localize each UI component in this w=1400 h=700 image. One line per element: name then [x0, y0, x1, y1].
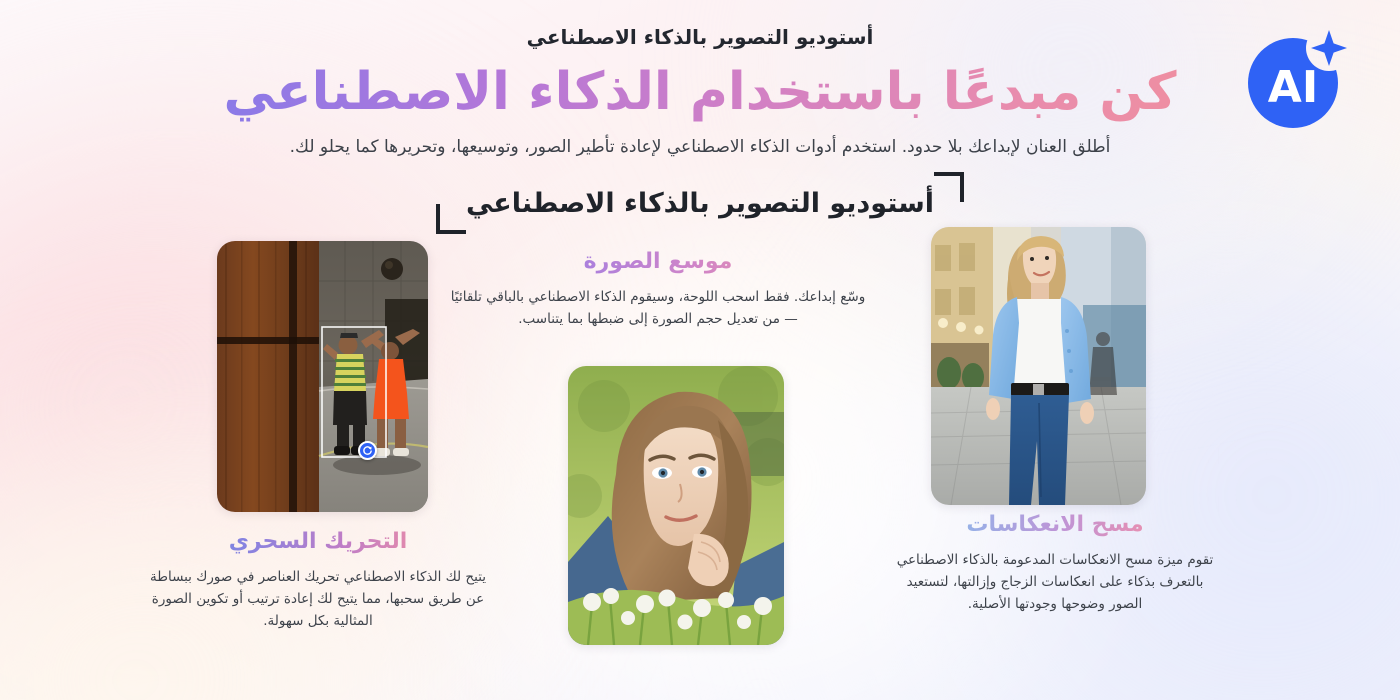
- rotate-handle-icon[interactable]: [358, 441, 377, 460]
- hero-section: أستوديو التصوير بالذكاء الاصطناعي كن مبد…: [0, 22, 1400, 160]
- ai-photo-studio-page: AI أستوديو التصوير بالذكاء الاصطناعي كن …: [0, 0, 1400, 700]
- feature-description-reflection-removal: تقوم ميزة مسح الانعكاسات المدعومة بالذكا…: [895, 549, 1215, 615]
- feature-card-image-expander: موسع الصورة وسّع إبداعك. فقط اسحب اللوحة…: [448, 245, 868, 330]
- hero-subtitle: أطلق العنان لإبداعك بلا حدود. استخدم أدو…: [0, 134, 1400, 160]
- feature-title-image-expander: موسع الصورة: [448, 245, 868, 279]
- feature-description-image-expander: وسّع إبداعك. فقط اسحب اللوحة، وسيقوم الذ…: [448, 286, 868, 330]
- corner-bracket-bottom-left-icon: [436, 204, 466, 234]
- feature-image-reflection-removal[interactable]: [931, 227, 1146, 505]
- section-frame: أستوديو التصوير بالذكاء الاصطناعي: [436, 172, 964, 234]
- section-title: أستوديو التصوير بالذكاء الاصطناعي: [466, 184, 934, 224]
- feature-image-image-expander[interactable]: [568, 366, 784, 645]
- feature-description-magic-move: يتيح لك الذكاء الاصطناعي تحريك العناصر ف…: [148, 566, 488, 632]
- feature-image-magic-move[interactable]: [217, 241, 428, 512]
- corner-bracket-top-right-icon: [934, 172, 964, 202]
- hero-eyebrow: أستوديو التصوير بالذكاء الاصطناعي: [0, 22, 1400, 52]
- feature-title-reflection-removal: مسح الانعكاسات: [895, 508, 1215, 542]
- feature-card-magic-move: التحريك السحري يتيح لك الذكاء الاصطناعي …: [148, 525, 488, 632]
- section-heading: أستوديو التصوير بالذكاء الاصطناعي: [0, 172, 1400, 234]
- hero-title: كن مبدعًا باستخدام الذكاء الاصطناعي: [0, 56, 1400, 128]
- feature-card-reflection-removal: مسح الانعكاسات تقوم ميزة مسح الانعكاسات …: [895, 508, 1215, 615]
- feature-title-magic-move: التحريك السحري: [148, 525, 488, 559]
